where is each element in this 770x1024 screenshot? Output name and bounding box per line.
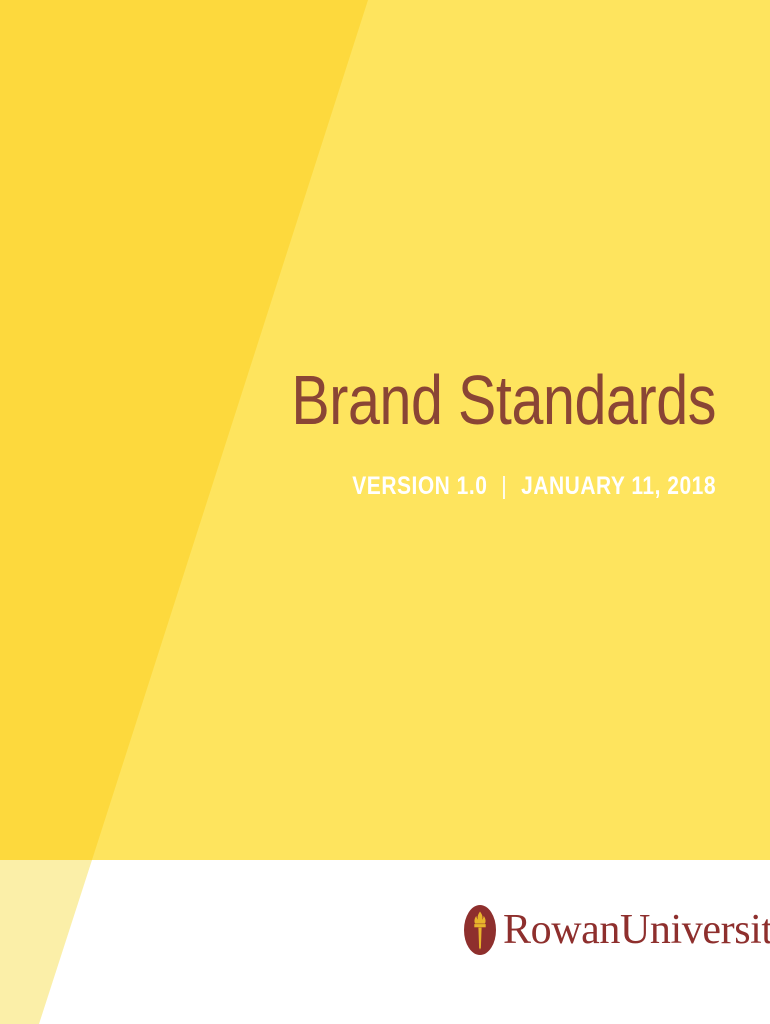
version-separator: | (494, 472, 515, 501)
version-date-line: VERSION 1.0 | JANUARY 11, 2018 (115, 440, 716, 501)
page-title: Brand Standards (129, 360, 716, 440)
rowan-torch-icon (463, 904, 497, 956)
rowan-university-logo: RowanUniversity (463, 901, 707, 959)
logo-wordmark: RowanUniversity (503, 908, 770, 952)
cover-page: Brand Standards VERSION 1.0 | JANUARY 11… (0, 0, 770, 1024)
version-label: VERSION 1.0 (352, 472, 487, 500)
publication-date: JANUARY 11, 2018 (521, 472, 716, 500)
title-block: Brand Standards VERSION 1.0 | JANUARY 11… (0, 360, 716, 501)
